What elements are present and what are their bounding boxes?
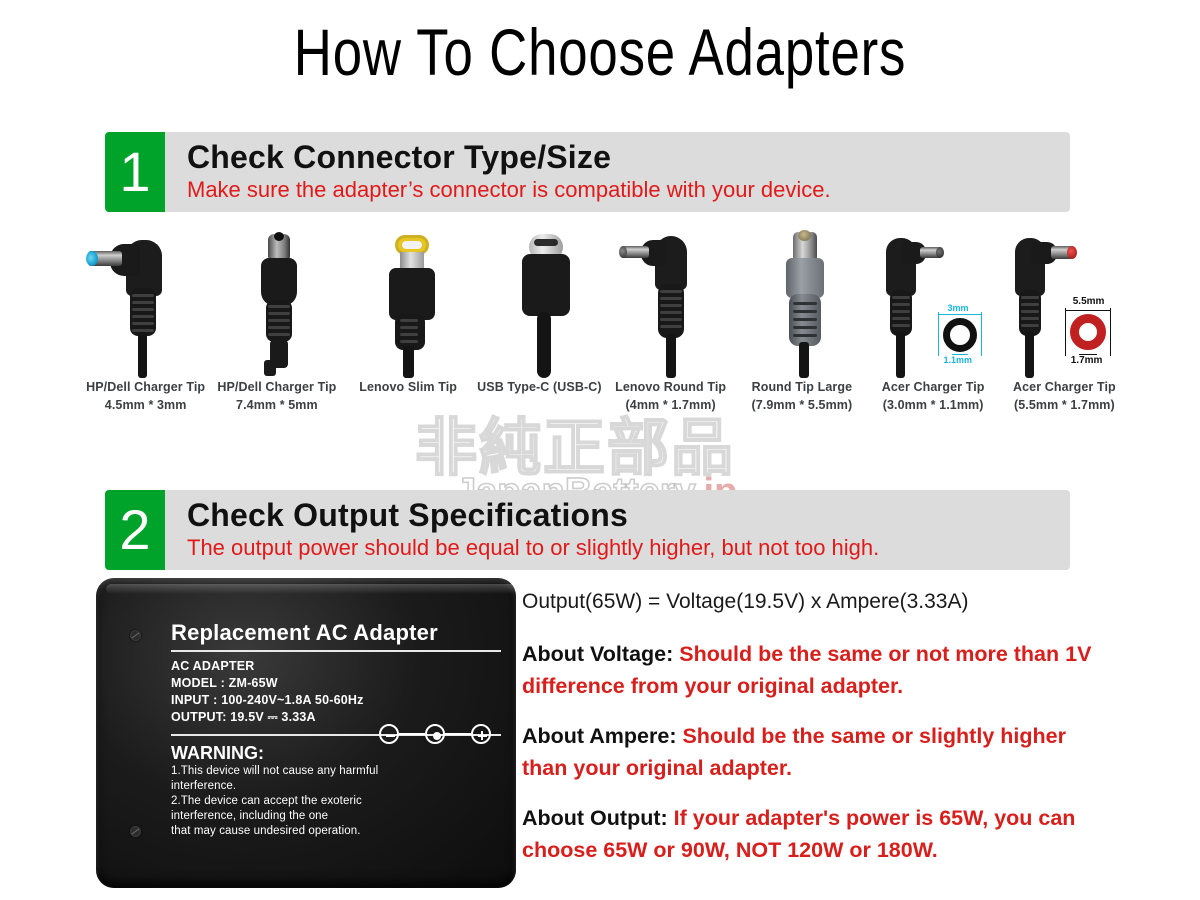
section-2-title: Check Output Specifications — [187, 497, 879, 533]
connector-size: (7.9mm * 5.5mm) — [751, 396, 852, 414]
connector-name: HP/Dell Charger Tip — [217, 378, 336, 396]
acer-right-angle-blue-ring-connector-icon: 3mm 1.1mm — [868, 228, 999, 378]
connector-name: Acer Charger Tip — [882, 378, 985, 396]
section-2-number: 2 — [105, 490, 165, 570]
connector-gallery: HP/Dell Charger Tip 4.5mm * 3mm HP/Dell … — [80, 228, 1130, 438]
connector-size: 7.4mm * 5mm — [236, 396, 318, 414]
section-1-number: 1 — [105, 132, 165, 212]
about-output-label: About Output: — [522, 806, 668, 830]
adapter-warning-line: 1.This device will not cause any harmful — [171, 764, 501, 779]
connector-name: HP/Dell Charger Tip — [86, 378, 205, 396]
about-voltage-paragraph: About Voltage: Should be the same or not… — [522, 638, 1092, 702]
section-1-title: Check Connector Type/Size — [187, 139, 831, 175]
adapter-label-plate: Replacement AC Adapter AC ADAPTER MODEL … — [171, 620, 501, 840]
divider — [171, 650, 501, 652]
connector-item-hp-dell-7.4mm: HP/Dell Charger Tip 7.4mm * 5mm — [211, 228, 342, 438]
section-1-subtitle: Make sure the adapter’s connector is com… — [187, 175, 831, 205]
ring-inner-dim: 1.7mm — [1071, 355, 1103, 366]
connector-size: (3.0mm * 1.1mm) — [883, 396, 984, 414]
section-2-subtitle: The output power should be equal to or s… — [187, 533, 879, 563]
about-ampere-label: About Ampere: — [522, 724, 676, 748]
right-angle-blue-tip-connector-icon — [80, 228, 211, 378]
adapter-label-line1: AC ADAPTER — [171, 658, 501, 675]
about-voltage-label: About Voltage: — [522, 642, 673, 666]
section-2-header: 2 Check Output Specifications The output… — [105, 490, 1070, 570]
adapter-label-title: Replacement AC Adapter — [171, 620, 501, 646]
polarity-symbol-icon — [379, 724, 499, 746]
acer-right-angle-red-ring-connector-icon: 5.5mm 1.7mm — [999, 228, 1130, 378]
connector-name: Acer Charger Tip — [1013, 378, 1116, 396]
connector-size: 4.5mm * 3mm — [105, 396, 187, 414]
connector-name: Lenovo Slim Tip — [359, 378, 457, 396]
connector-item-acer-3.0mm: 3mm 1.1mm Acer Charger Tip (3.0mm * 1.1m… — [868, 228, 999, 438]
connector-size: (5.5mm * 1.7mm) — [1014, 396, 1115, 414]
connector-item-acer-5.5mm: 5.5mm 1.7mm Acer Charger Tip (5.5mm * 1.… — [999, 228, 1130, 438]
page-title: How To Choose Adapters — [120, 14, 1080, 90]
adapter-warning-line: that may cause undesired operation. — [171, 824, 501, 839]
connector-item-lenovo-slim-tip: Lenovo Slim Tip — [343, 228, 474, 438]
connector-item-lenovo-round-tip: Lenovo Round Tip (4mm * 1.7mm) — [605, 228, 736, 438]
output-spec-text-block: Output(65W) = Voltage(19.5V) x Ampere(3.… — [522, 588, 1092, 884]
adapter-warning-line: interference, including the one — [171, 809, 501, 824]
about-output-paragraph: About Output: If your adapter's power is… — [522, 802, 1092, 866]
connector-name: USB Type-C (USB-C) — [477, 378, 601, 396]
gray-large-round-tip-connector-icon — [736, 228, 867, 378]
about-ampere-paragraph: About Ampere: Should be the same or slig… — [522, 720, 1092, 784]
lenovo-yellow-slim-tip-connector-icon — [343, 228, 474, 378]
ring-outer-dim: 5.5mm — [1073, 296, 1105, 307]
screw-icon — [130, 630, 141, 641]
acer-small-ring-diagram: 3mm 1.1mm — [930, 304, 992, 366]
usb-type-c-connector-icon — [474, 228, 605, 378]
adapter-label-line3: INPUT : 100-240V~1.8A 50-60Hz — [171, 692, 501, 709]
infographic-page: How To Choose Adapters 1 Check Connector… — [0, 0, 1200, 900]
ring-outer-dim: 3mm — [948, 303, 969, 313]
section-1-header: 1 Check Connector Type/Size Make sure th… — [105, 132, 1070, 212]
connector-item-usb-c: USB Type-C (USB-C) — [474, 228, 605, 438]
connector-item-round-tip-large: Round Tip Large (7.9mm * 5.5mm) — [736, 228, 867, 438]
acer-large-ring-diagram: 5.5mm 1.7mm — [1057, 298, 1127, 370]
straight-barrel-connector-icon — [211, 228, 342, 378]
ac-adapter-photo: Replacement AC Adapter AC ADAPTER MODEL … — [96, 578, 516, 888]
connector-size: (4mm * 1.7mm) — [626, 396, 716, 414]
screw-icon — [130, 826, 141, 837]
adapter-warning-line: interference. — [171, 779, 501, 794]
adapter-label-line2: MODEL : ZM-65W — [171, 675, 501, 692]
output-equation: Output(65W) = Voltage(19.5V) x Ampere(3.… — [522, 588, 1092, 616]
connector-name: Round Tip Large — [752, 378, 853, 396]
connector-name: Lenovo Round Tip — [615, 378, 726, 396]
connector-item-hp-dell-4.5mm: HP/Dell Charger Tip 4.5mm * 3mm — [80, 228, 211, 438]
right-angle-small-round-tip-connector-icon — [605, 228, 736, 378]
ring-inner-dim: 1.1mm — [944, 355, 973, 365]
adapter-warning-line: 2.The device can accept the exoteric — [171, 794, 501, 809]
